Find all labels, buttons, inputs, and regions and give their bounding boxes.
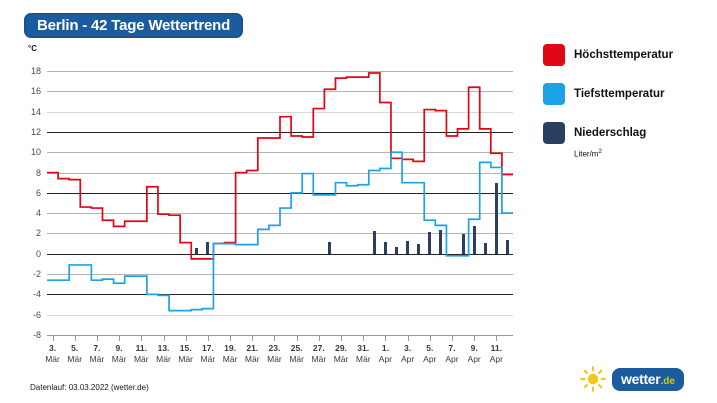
logo-pill: wetter.de [612, 368, 684, 391]
y-axis-tick-4: 4 [36, 208, 41, 218]
x-axis-line [47, 335, 513, 336]
x-axis-tick-month: Mär [356, 354, 371, 365]
x-axis-tick-month: Mär [267, 354, 282, 365]
x-axis-tickmark [297, 335, 298, 341]
x-axis-tickmark [119, 335, 120, 341]
x-axis-tick-month: Mär [223, 354, 238, 365]
x-axis-tick-month: Mär [289, 354, 304, 365]
x-axis-tick-day: 11. [134, 343, 149, 354]
x-axis-tick-month: Mär [67, 354, 82, 365]
x-axis-tick-day: 5. [67, 343, 82, 354]
x-axis-tick-month: Mär [112, 354, 127, 365]
x-axis-tick-month: Mär [178, 354, 193, 365]
legend-label-precipitation: Niederschlag [574, 127, 646, 139]
x-axis-tick-month: Mär [245, 354, 260, 365]
x-axis-tick-day: 3. [401, 343, 414, 354]
x-axis-tickmark [53, 335, 54, 341]
x-axis-tick-label: 3.Mär [45, 343, 60, 365]
legend-unit-exponent: 2 [598, 149, 601, 155]
x-axis-tickmark [341, 335, 342, 341]
x-axis-tick-month: Apr [445, 354, 458, 365]
legend-swatch-precipitation [543, 122, 565, 144]
x-axis-tickmark [474, 335, 475, 341]
x-axis-tickmark [230, 335, 231, 341]
x-axis-tick-label: 3.Apr [401, 343, 414, 365]
x-axis-tick-day: 9. [112, 343, 127, 354]
legend-label-min-temperature: Tiefsttemperatur [574, 88, 665, 100]
x-axis-tick-day: 13. [156, 343, 171, 354]
x-axis-tick-day: 17. [201, 343, 216, 354]
x-axis-tick-month: Mär [312, 354, 327, 365]
x-axis-tick-label: 7.Mär [90, 343, 105, 365]
x-axis-tick-label: 23.Mär [267, 343, 282, 365]
x-axis-tick-day: 5. [423, 343, 436, 354]
weather-trend-chart: Berlin - 42 Tage Wettertrend °C 18161412… [0, 0, 717, 403]
x-axis-tick-day: 15. [178, 343, 193, 354]
x-axis-tick-label: 11.Apr [490, 343, 503, 365]
y-axis-tick--8: -8 [33, 330, 41, 340]
x-axis-tick-day: 23. [267, 343, 282, 354]
x-axis-tick-label: 13.Mär [156, 343, 171, 365]
x-axis-tick-day: 7. [445, 343, 458, 354]
y-axis-tick-18: 18 [31, 66, 41, 76]
x-axis-tickmark [430, 335, 431, 341]
x-axis-tick-day: 1. [379, 343, 392, 354]
data-run-note: Datenlauf: 03.03.2022 (wetter.de) [30, 383, 149, 392]
y-axis-tick--2: -2 [33, 269, 41, 279]
x-axis-tickmark [75, 335, 76, 341]
x-axis-tick-month: Apr [379, 354, 392, 365]
legend-unit-precipitation: Liter/m2 [574, 149, 713, 159]
wetter-de-logo[interactable]: wetter.de [578, 364, 684, 394]
page-title: Berlin - 42 Tage Wettertrend [24, 13, 243, 38]
x-axis-tick-day: 7. [90, 343, 105, 354]
x-axis-tick-day: 9. [468, 343, 481, 354]
legend-item-max-temperature: Höchsttemperatur [543, 44, 713, 66]
legend-item-precipitation: Niederschlag [543, 122, 713, 144]
x-axis-tick-day: 31. [356, 343, 371, 354]
series-line-tiefsttemperatur [47, 152, 513, 310]
y-axis-tick-16: 16 [31, 86, 41, 96]
x-axis-tickmark [408, 335, 409, 341]
x-axis-tickmark [452, 335, 453, 341]
chart-legend: Höchsttemperatur Tiefsttemperatur Nieder… [543, 44, 713, 159]
y-axis-tick-12: 12 [31, 127, 41, 137]
x-axis-tick-label: 29.Mär [334, 343, 349, 365]
x-axis-tick-label: 7.Apr [445, 343, 458, 365]
x-axis-tick-label: 27.Mär [312, 343, 327, 365]
x-axis-tickmark [319, 335, 320, 341]
page-title-text: Berlin - 42 Tage Wettertrend [37, 18, 230, 33]
temperature-series [47, 71, 513, 335]
x-axis-tickmark [186, 335, 187, 341]
plot-area: 181614121086420-2-4-6-8 [47, 71, 513, 335]
x-axis-tickmark [208, 335, 209, 341]
legend-item-min-temperature: Tiefsttemperatur [543, 83, 713, 105]
x-axis-tick-month: Mär [334, 354, 349, 365]
x-axis-tick-label: 5.Mär [67, 343, 82, 365]
x-axis-tickmark [274, 335, 275, 341]
y-axis-tick-10: 10 [31, 147, 41, 157]
x-axis-tick-label: 21.Mär [245, 343, 260, 365]
x-axis-tick-day: 25. [289, 343, 304, 354]
y-axis-tick-8: 8 [36, 168, 41, 178]
x-axis-tick-month: Apr [423, 354, 436, 365]
x-axis-tickmark [363, 335, 364, 341]
sun-icon [578, 364, 608, 394]
x-axis-tick-month: Mär [45, 354, 60, 365]
x-axis-tick-label: 11.Mär [134, 343, 149, 365]
legend-swatch-min-temperature [543, 83, 565, 105]
x-axis-tick-month: Apr [468, 354, 481, 365]
x-axis-tickmark [164, 335, 165, 341]
x-axis-tick-day: 29. [334, 343, 349, 354]
x-axis-tickmark [97, 335, 98, 341]
x-axis-tick-label: 9.Mär [112, 343, 127, 365]
y-axis-tick-14: 14 [31, 107, 41, 117]
x-axis-tick-label: 5.Apr [423, 343, 436, 365]
x-axis-tickmark [252, 335, 253, 341]
logo-tld: .de [660, 376, 674, 387]
x-axis-tick-day: 27. [312, 343, 327, 354]
y-axis-unit-label: °C [28, 44, 37, 53]
x-axis-tick-label: 15.Mär [178, 343, 193, 365]
y-axis-tick-0: 0 [36, 249, 41, 259]
x-axis-tick-day: 21. [245, 343, 260, 354]
x-axis-tick-day: 11. [490, 343, 503, 354]
legend-label-max-temperature: Höchsttemperatur [574, 49, 673, 61]
x-axis-tick-label: 19.Mär [223, 343, 238, 365]
x-axis-tick-month: Mär [134, 354, 149, 365]
x-axis-tick-day: 19. [223, 343, 238, 354]
y-axis-tick-2: 2 [36, 228, 41, 238]
legend-swatch-max-temperature [543, 44, 565, 66]
x-axis-tick-day: 3. [45, 343, 60, 354]
series-line-höchsttemperatur [47, 73, 513, 259]
x-axis-tick-month: Mär [156, 354, 171, 365]
x-axis-tick-label: 17.Mär [201, 343, 216, 365]
legend-unit-text: Liter/m [574, 150, 598, 159]
x-axis-tickmark [141, 335, 142, 341]
x-axis-tick-label: 31.Mär [356, 343, 371, 365]
y-axis-tick--6: -6 [33, 310, 41, 320]
x-axis-tickmark [496, 335, 497, 341]
x-axis-tickmark [385, 335, 386, 341]
y-axis-tick--4: -4 [33, 289, 41, 299]
x-axis-tick-label: 9.Apr [468, 343, 481, 365]
x-axis-tick-month: Mär [90, 354, 105, 365]
y-axis-tick-6: 6 [36, 188, 41, 198]
logo-wordmark: wetter [621, 371, 660, 387]
x-axis-tick-month: Mär [201, 354, 216, 365]
x-axis-tick-label: 1.Apr [379, 343, 392, 365]
x-axis-tick-month: Apr [401, 354, 414, 365]
x-axis-tick-label: 25.Mär [289, 343, 304, 365]
x-axis-tick-month: Apr [490, 354, 503, 365]
